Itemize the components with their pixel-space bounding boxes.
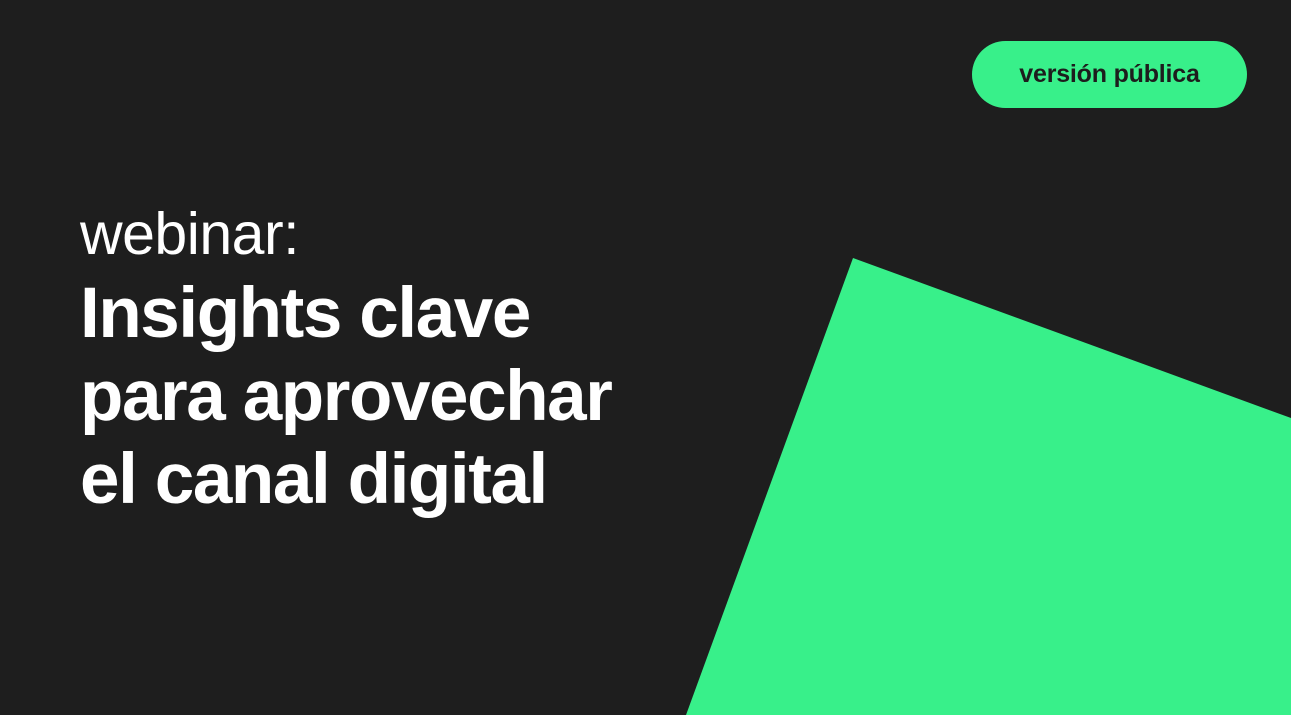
page-title: Insights clave para aprovechar el canal … <box>80 272 612 521</box>
green-angled-polygon <box>686 258 1291 715</box>
webinar-promo-slide: versión pública webinar: Insights clave … <box>0 0 1291 715</box>
status-badge-label: versión pública <box>1019 62 1199 87</box>
page-title-line-1: Insights clave <box>80 272 612 355</box>
headline-block: webinar: Insights clave para aprovechar … <box>80 196 612 521</box>
eyebrow-label: webinar: <box>80 196 612 272</box>
page-title-line-2: para aprovechar <box>80 355 612 438</box>
page-title-line-3: el canal digital <box>80 438 612 521</box>
status-badge[interactable]: versión pública <box>972 41 1247 108</box>
